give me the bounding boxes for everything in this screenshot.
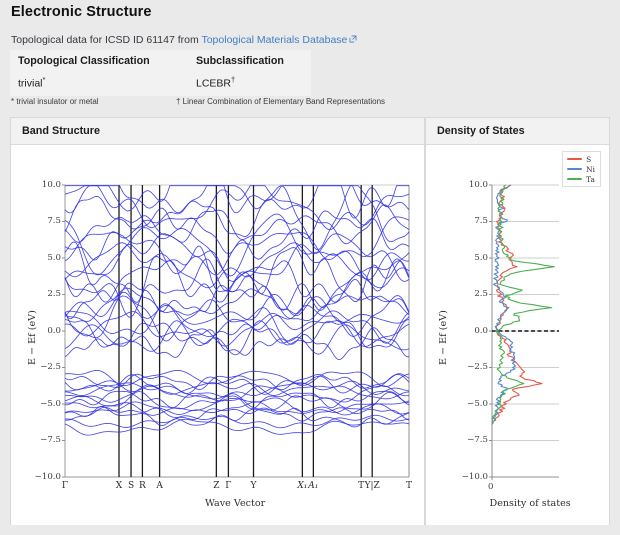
band-x-axis-label: Wave Vector (205, 498, 265, 509)
legend-item-ni: Ni (567, 165, 595, 173)
density-of-states-panel-title: Density of States (426, 118, 609, 145)
band-y-tick-2: 5.0 (17, 253, 61, 263)
footnote-trivial: * trivial insulator or metal (11, 97, 99, 106)
legend-item-s: S (567, 155, 595, 163)
band-y-tick-6: −5.0 (17, 399, 61, 409)
subtitle-prefix: Topological data for ICSD ID 61147 from (11, 34, 201, 46)
subclassification-marker: † (231, 75, 235, 84)
band-structure-plot-area: E − Ef (eV) Wave Vector 10.07.55.02.50.0… (11, 145, 424, 525)
dos-y-tick-6: −5.0 (440, 399, 488, 409)
band-y-tick-4: 0.0 (17, 326, 61, 336)
dos-y-tick-8: −10.0 (440, 472, 488, 482)
topological-classification-table: Topological Classification Subclassifica… (10, 50, 311, 96)
dos-x-tick-0: 0 (488, 482, 493, 492)
legend-swatch-s (567, 158, 582, 160)
band-structure-panel: Band Structure E − Ef (eV) Wave Vector 1… (10, 117, 425, 525)
legend-item-ta: Ta (567, 175, 595, 183)
dos-legend: S Ni Ta (562, 151, 601, 187)
dos-y-tick-7: −7.5 (440, 435, 488, 445)
table-header-row: Topological Classification Subclassifica… (10, 50, 311, 71)
band-structure-panel-title: Band Structure (11, 118, 424, 145)
dos-x-axis-label: Density of states (490, 498, 571, 509)
classification-value: trivial (18, 78, 43, 90)
table-row: trivial* LCEBR† (10, 71, 311, 96)
dos-y-tick-2: 5.0 (440, 253, 488, 263)
band-y-tick-3: 2.5 (17, 289, 61, 299)
band-k-label-6: Γ (214, 481, 242, 491)
electronic-structure-page: Electronic Structure Topological data fo… (0, 0, 620, 535)
density-of-states-plot-area: E − Ef (eV) Density of states S Ni Ta 10… (426, 145, 609, 525)
band-y-tick-0: 10.0 (17, 180, 61, 190)
band-k-label-12: T (395, 481, 423, 491)
band-k-label-9: A₁ (299, 481, 327, 491)
band-y-tick-7: −7.5 (17, 435, 61, 445)
col-header-classification: Topological Classification (10, 50, 188, 71)
legend-swatch-ni (567, 168, 582, 170)
topological-data-subtitle: Topological data for ICSD ID 61147 from … (11, 34, 357, 46)
band-structure-chart (11, 145, 424, 525)
col-header-subclassification: Subclassification (188, 50, 311, 71)
band-k-label-4: A (146, 481, 174, 491)
legend-label-s: S (586, 155, 591, 164)
cell-classification: trivial* (10, 71, 188, 96)
subclassification-value: LCEBR (196, 78, 231, 90)
band-k-label-7: Y (240, 481, 268, 491)
density-of-states-panel: Density of States E − Ef (eV) Density of… (425, 117, 610, 525)
legend-label-ni: Ni (586, 165, 595, 174)
dos-y-tick-1: 7.5 (440, 216, 488, 226)
band-y-axis-label: E − Ef (eV) (27, 310, 38, 365)
band-y-tick-1: 7.5 (17, 216, 61, 226)
legend-label-ta: Ta (586, 175, 595, 184)
dos-y-tick-5: −2.5 (440, 362, 488, 372)
band-y-tick-8: −10.0 (17, 472, 61, 482)
external-link-icon (349, 35, 357, 43)
classification-marker: * (43, 75, 46, 84)
page-title: Electronic Structure (11, 4, 152, 20)
band-y-tick-5: −2.5 (17, 362, 61, 372)
footnote-lcebr: † Linear Combination of Elementary Band … (176, 97, 385, 106)
dos-y-tick-4: 0.0 (440, 326, 488, 336)
dos-y-tick-0: 10.0 (440, 180, 488, 190)
band-k-label-11: Y|Z (358, 481, 386, 491)
band-k-label-0: Γ (51, 481, 79, 491)
dos-y-axis-label: E − Ef (eV) (438, 310, 449, 365)
topological-materials-database-link[interactable]: Topological Materials Database (201, 34, 347, 46)
dos-y-tick-3: 2.5 (440, 289, 488, 299)
legend-swatch-ta (567, 178, 582, 180)
cell-subclassification: LCEBR† (188, 71, 311, 96)
